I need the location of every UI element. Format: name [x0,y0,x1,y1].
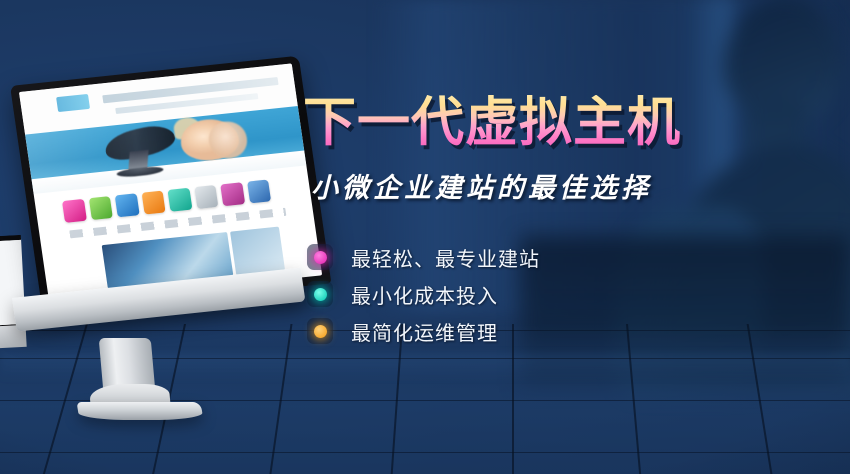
imac-desktop-monitor [10,86,310,406]
imac-screen [19,63,322,303]
hero-banner: 下一代虚拟主机 小微企业建站的最佳选择 最轻松、最专业建站 最小化成本投入 最简… [0,0,850,474]
subheadline: 小微企业建站的最佳选择 [311,166,723,205]
website-side-photo [230,226,285,276]
feature-item: 最轻松、最专业建站 [307,239,723,275]
app-icon-green [89,196,114,220]
feature-label: 最简化运维管理 [351,317,498,346]
feature-item: 最小化成本投入 [307,276,723,312]
feature-item: 最简化运维管理 [307,313,723,349]
imac-stand-base [77,402,204,420]
app-icon-indigo [247,180,272,204]
marketing-copy-block: 下一代虚拟主机 小微企业建站的最佳选择 最轻松、最专业建站 最小化成本投入 最简… [303,95,723,350]
app-icon-magenta [62,199,87,223]
feature-label: 最轻松、最专业建站 [351,243,540,272]
bullet-dot-teal-icon [307,281,333,307]
floor-line-horizontal [0,452,850,453]
app-icon-teal [168,188,193,212]
feature-list: 最轻松、最专业建站 最小化成本投入 最简化运维管理 [307,239,723,349]
bullet-dot-orange-icon [307,318,333,344]
app-icon-grey [194,185,219,209]
app-icon-blue [115,194,140,218]
headline: 下一代虚拟主机 [303,95,723,150]
app-icon-purple [221,182,246,206]
feature-label: 最小化成本投入 [351,280,498,309]
bullet-dot-magenta-icon [307,244,333,270]
app-icon-orange [142,191,167,215]
